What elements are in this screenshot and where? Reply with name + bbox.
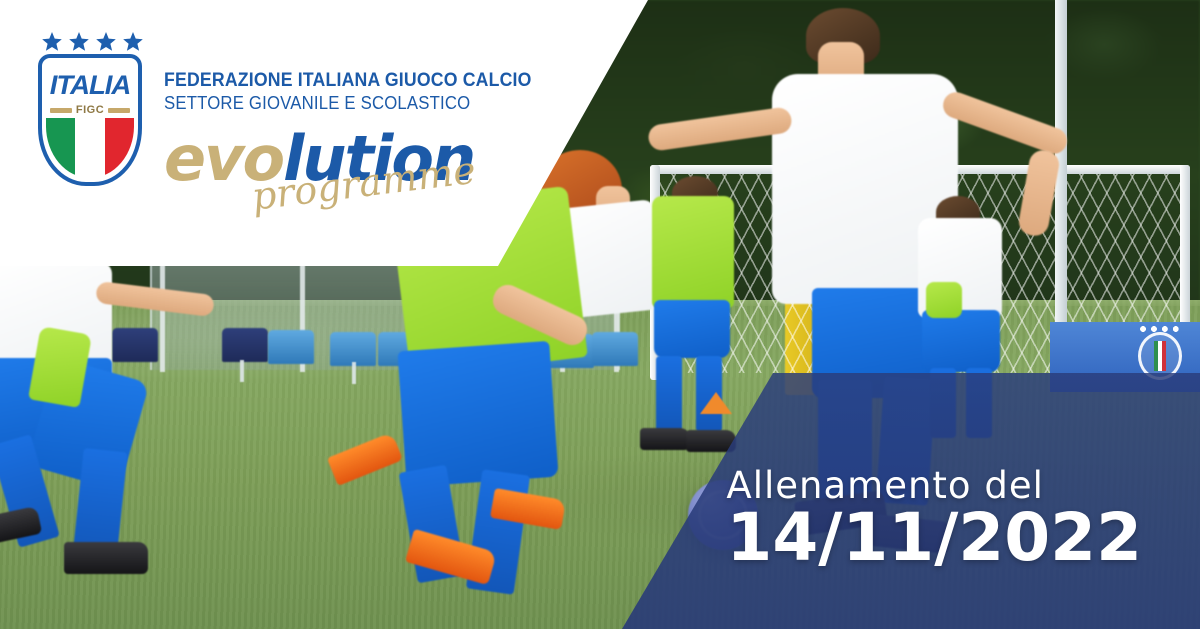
star-icon <box>69 32 89 51</box>
bench-seat <box>112 328 158 362</box>
tricolour-green <box>46 118 75 178</box>
shield-outline: ITALIA FIGC <box>38 54 142 186</box>
italian-tricolour <box>46 118 134 178</box>
tricolour-white <box>75 118 104 178</box>
shield-inner: ITALIA FIGC <box>46 62 134 178</box>
tricolour-red <box>105 118 134 178</box>
bench-seat <box>268 330 314 364</box>
four-stars-icon <box>38 32 146 51</box>
training-cone <box>700 392 732 414</box>
figc-logo-icon <box>1138 332 1182 380</box>
player-shorts <box>654 300 730 358</box>
bench-leg <box>240 360 244 382</box>
federation-text-block: FEDERAZIONE ITALIANA GIUOCO CALCIO SETTO… <box>164 32 559 228</box>
shield-italia-text: ITALIA <box>46 70 134 101</box>
star-icon <box>123 32 143 51</box>
logo-row: ITALIA FIGC FEDERAZIONE ITALIANA GIUOCO … <box>38 32 559 228</box>
star-icon <box>42 32 62 51</box>
evolution-programme-logo: evolution programme <box>164 128 494 228</box>
federation-name-line1: FEDERAZIONE ITALIANA GIUOCO CALCIO <box>164 70 532 92</box>
player-shorts <box>397 341 558 487</box>
federation-name-line2: SETTORE GIOVANILE E SCOLASTICO <box>164 93 532 114</box>
figc-italia-shield: ITALIA FIGC <box>38 32 146 186</box>
gold-bar-left <box>50 108 72 113</box>
player-boot <box>640 428 690 450</box>
star-icon <box>96 32 116 51</box>
training-banner: ITALIA FIGC FEDERAZIONE ITALIANA GIUOCO … <box>0 0 1200 629</box>
shield-figc-text: FIGC <box>76 104 104 116</box>
caption-date: 14/11/2022 <box>726 504 1142 571</box>
player-shorts <box>922 310 1000 372</box>
caption-block: Allenamento del 14/11/2022 <box>726 467 1142 571</box>
bench-leg <box>352 362 356 384</box>
bench-seat <box>330 332 376 366</box>
player-sock <box>656 356 682 432</box>
player-boot <box>64 542 148 574</box>
bench-seat <box>592 332 638 366</box>
player-bib-tied <box>926 282 962 318</box>
shield-figc-line: FIGC <box>50 104 130 116</box>
bench-seat <box>222 328 268 362</box>
gold-bar-right <box>108 108 130 113</box>
